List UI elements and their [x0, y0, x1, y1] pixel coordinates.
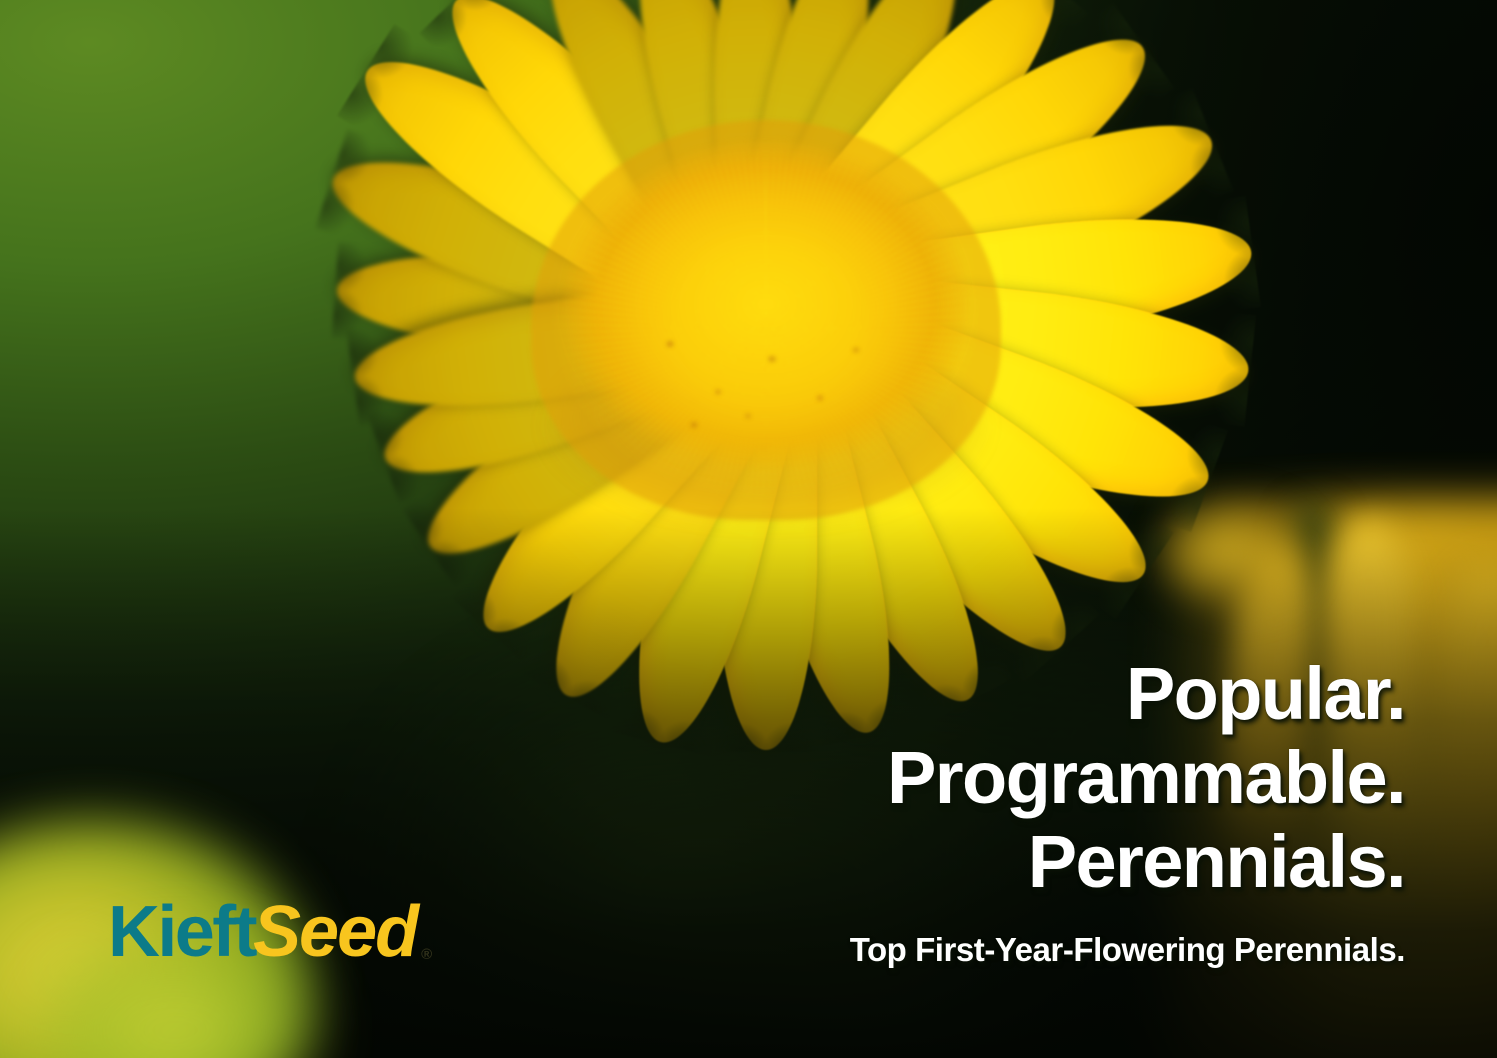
headline-line-3: Perennials. — [887, 820, 1405, 904]
cover-image: Popular. Programmable. Perennials. Top F… — [0, 0, 1497, 1058]
registered-trademark-icon: ® — [421, 947, 429, 962]
kieftseed-logo: KieftSeed® — [108, 896, 430, 968]
headline-line-2: Programmable. — [887, 736, 1405, 820]
headline-line-1: Popular. — [887, 652, 1405, 736]
logo-word-kieft: Kieft — [108, 896, 255, 968]
logo-word-seed: Seed — [253, 896, 417, 968]
headline-block: Popular. Programmable. Perennials. — [887, 652, 1405, 904]
subtitle: Top First-Year-Flowering Perennials. — [850, 930, 1405, 970]
